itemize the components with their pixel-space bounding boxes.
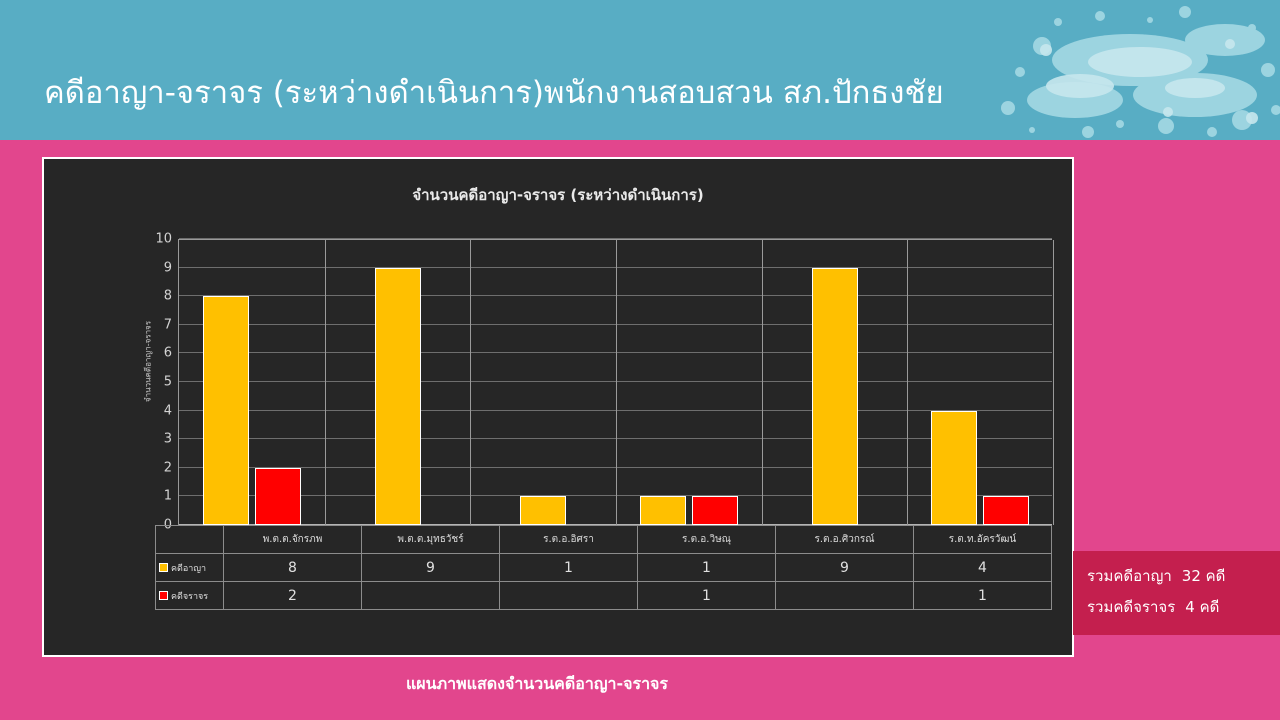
table-category-cell: ร.ต.อ.ศิวกรณ์: [776, 526, 914, 554]
bar-คดีอาญา-ร.ต.ท.อัครวัฒน์: [931, 411, 977, 525]
footer-caption: แผนภาพแสดงจำนวนคดีอาญา-จราจร: [0, 672, 1032, 697]
table-row-series-0: คดีอาญา 891194: [156, 554, 1052, 582]
table-row-series-1: คดีจราจร 211: [156, 582, 1052, 610]
gridline-vertical: [907, 240, 908, 525]
table-value-cell: 1: [914, 582, 1052, 610]
table-value-cell: 9: [362, 554, 500, 582]
y-tick-label: 3: [144, 432, 172, 447]
table-value-cell: 4: [914, 554, 1052, 582]
legend-label-0: คดีอาญา: [171, 564, 206, 574]
y-tick-label: 5: [144, 375, 172, 390]
y-tick-label: 9: [144, 260, 172, 275]
table-value-cell: [362, 582, 500, 610]
bar-คดีจราจร-ร.ต.อ.วิษณุ: [692, 496, 738, 525]
bar-คดีอาญา-พ.ต.ต.มุทธวัชร์: [375, 268, 421, 525]
gridline-vertical: [325, 240, 326, 525]
page-title: คดีอาญา-จราจร (ระหว่างดำเนินการ)พนักงานส…: [44, 76, 944, 110]
legend-swatch-icon-1: [159, 591, 168, 600]
table-value-cell: [500, 582, 638, 610]
y-tick-label: 6: [144, 346, 172, 361]
summary-line-1: รวมคดีจราจร4 คดี: [1087, 592, 1280, 623]
table-category-cell: ร.ต.ท.อัครวัฒน์: [914, 526, 1052, 554]
gridline-vertical: [616, 240, 617, 525]
table-category-cell: ร.ต.อ.อิศรา: [500, 526, 638, 554]
bar-คดีอาญา-พ.ต.ต.จักรภพ: [203, 296, 249, 525]
table-value-cell: 1: [638, 582, 776, 610]
legend-swatch-icon-0: [159, 563, 168, 572]
header-band: คดีอาญา-จราจร (ระหว่างดำเนินการ)พนักงานส…: [0, 0, 1280, 140]
table-value-cell: 9: [776, 554, 914, 582]
y-axis-tick-labels: 109876543210: [142, 239, 172, 525]
y-tick-label: 7: [144, 317, 172, 332]
bar-คดีจราจร-ร.ต.ท.อัครวัฒน์: [983, 496, 1029, 525]
summary-value-1: 4 คดี: [1185, 598, 1219, 616]
y-tick-label: 10: [144, 232, 172, 247]
y-tick-label: 8: [144, 289, 172, 304]
table-category-cell: ร.ต.อ.วิษณุ: [638, 526, 776, 554]
chart-panel: จำนวนคดีอาญา-จราจร (ระหว่างดำเนินการ) จำ…: [42, 157, 1074, 657]
bar-คดีจราจร-พ.ต.ต.จักรภพ: [255, 468, 301, 525]
legend-corner-cell: [156, 526, 224, 554]
legend-item-1: คดีจราจร: [156, 582, 224, 610]
bar-คดีอาญา-ร.ต.อ.ศิวกรณ์: [812, 268, 858, 525]
legend-item-0: คดีอาญา: [156, 554, 224, 582]
gridline-vertical: [1053, 240, 1054, 525]
header-divider: [0, 140, 1280, 148]
splatter-decoration: [980, 0, 1280, 140]
table-value-cell: 2: [224, 582, 362, 610]
table-value-cell: 8: [224, 554, 362, 582]
table-row-categories: พ.ต.ต.จักรภพพ.ต.ต.มุทธวัชร์ร.ต.อ.อิศราร.…: [156, 526, 1052, 554]
summary-value-0: 32 คดี: [1182, 567, 1226, 585]
y-tick-label: 1: [144, 489, 172, 504]
table-category-cell: พ.ต.ต.จักรภพ: [224, 526, 362, 554]
summary-label-1: รวมคดีจราจร: [1087, 598, 1175, 616]
gridline-vertical: [762, 240, 763, 525]
gridline-horizontal: [179, 238, 1052, 239]
y-tick-label: 4: [144, 403, 172, 418]
summary-line-0: รวมคดีอาญา32 คดี: [1087, 561, 1280, 592]
y-tick-label: 2: [144, 460, 172, 475]
summary-label-0: รวมคดีอาญา: [1087, 567, 1172, 585]
summary-box: รวมคดีอาญา32 คดีรวมคดีจราจร4 คดี: [1073, 551, 1280, 635]
chart-title: จำนวนคดีอาญา-จราจร (ระหว่างดำเนินการ): [44, 183, 1072, 207]
table-value-cell: [776, 582, 914, 610]
table-value-cell: 1: [638, 554, 776, 582]
chart-data-table: พ.ต.ต.จักรภพพ.ต.ต.มุทธวัชร์ร.ต.อ.อิศราร.…: [155, 525, 1052, 610]
table-category-cell: พ.ต.ต.มุทธวัชร์: [362, 526, 500, 554]
plot-area: [178, 239, 1052, 525]
table-value-cell: 1: [500, 554, 638, 582]
slide-root: คดีอาญา-จราจร (ระหว่างดำเนินการ)พนักงานส…: [0, 0, 1280, 720]
legend-label-1: คดีจราจร: [171, 592, 208, 602]
bar-คดีอาญา-ร.ต.อ.วิษณุ: [640, 496, 686, 525]
bar-คดีอาญา-ร.ต.อ.อิศรา: [520, 496, 566, 525]
gridline-vertical: [470, 240, 471, 525]
